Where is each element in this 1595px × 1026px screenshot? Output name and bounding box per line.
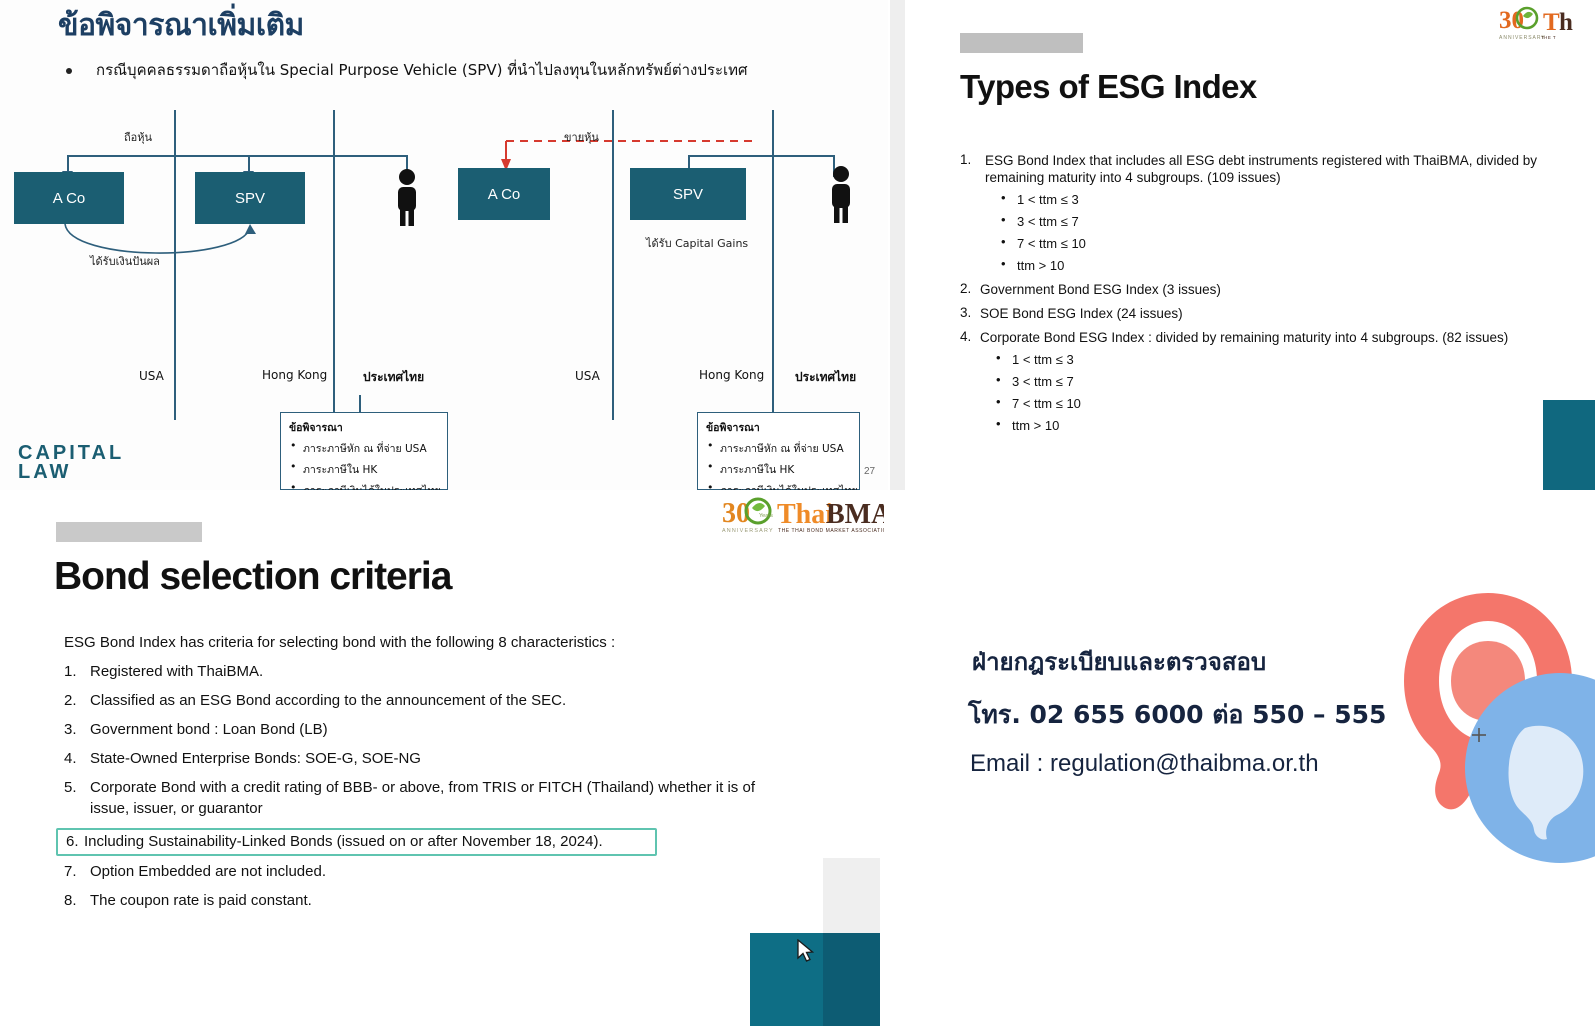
criteria-number: 6. xyxy=(66,832,79,853)
criteria-number: 3. xyxy=(64,720,77,741)
top-left-slide-lead-text: กรณีบุคคลธรรมดาถือหุ้นใน Special Purpose… xyxy=(96,58,856,82)
list-item-text: SOE Bond ESG Index (24 issues) xyxy=(980,305,1580,322)
box-spv-right: SPV xyxy=(630,168,746,220)
decorative-q-logos xyxy=(1375,553,1595,873)
list-item-text: Corporate Bond ESG Index : divided by re… xyxy=(980,329,1580,346)
criteria-number: 1. xyxy=(64,662,77,683)
bullet-dot-icon xyxy=(66,68,72,74)
divider-line-hk-th-right xyxy=(772,110,774,420)
criteria-text: Corporate Bond with a credit rating of B… xyxy=(90,779,755,817)
slide-left-gutter xyxy=(890,0,905,490)
contact-email: Email : regulation@thaibma.or.th xyxy=(970,750,1319,778)
svg-text:T: T xyxy=(1543,9,1560,36)
list-item: 2. Government Bond ESG Index (3 issues) xyxy=(960,281,1580,298)
criteria-item: 4. State-Owned Enterprise Bonds: SOE-G, … xyxy=(64,749,764,770)
criteria-item: 2. Classified as an ESG Bond according t… xyxy=(64,691,764,712)
contact-phone: โทร. 02 655 6000 ต่อ 550 – 555 xyxy=(968,695,1386,735)
label-hold-shares-left: ถือหุ้น xyxy=(124,128,152,146)
esg-index-title: Types of ESG Index xyxy=(960,68,1257,106)
criteria-item: 3. Government bond : Loan Bond (LB) xyxy=(64,720,764,741)
svg-text:Thai: Thai xyxy=(777,499,833,530)
sublist: 1 < ttm ≤ 3 3 < ttm ≤ 7 7 < ttm ≤ 10 ttm… xyxy=(980,352,1580,433)
list-item: 4. Corporate Bond ESG Index : divided by… xyxy=(960,329,1580,433)
connector-horizontal-right xyxy=(688,155,834,157)
svg-text:h: h xyxy=(1559,9,1573,36)
bond-criteria-list: 1. Registered with ThaiBMA. 2. Classifie… xyxy=(64,662,764,920)
note-stem-left xyxy=(359,395,361,413)
title-accent-bar xyxy=(56,522,202,542)
country-label-thailand-left: ประเทศไทย xyxy=(363,368,424,387)
criteria-text: State-Owned Enterprise Bonds: SOE-G, SOE… xyxy=(90,750,421,767)
country-label-thailand-right: ประเทศไทย xyxy=(795,368,856,387)
list-item-text: ESG Bond Index that includes all ESG deb… xyxy=(985,152,1580,186)
box-spv-left: SPV xyxy=(195,172,305,224)
criteria-item: 7. Option Embedded are not included. xyxy=(64,862,764,883)
sublist-item: ttm > 10 xyxy=(985,258,1580,273)
note-item: ภาระภาษีเงินได้ในประเทศไทย xyxy=(720,482,851,490)
background-window-strip xyxy=(823,858,880,934)
connector-horizontal-left xyxy=(67,155,407,157)
teal-accent-block xyxy=(1543,400,1595,490)
person-icon-right xyxy=(826,165,856,223)
sublist: 1 < ttm ≤ 3 3 < ttm ≤ 7 7 < ttm ≤ 10 ttm… xyxy=(985,192,1580,273)
thaibma-logo-top-right: 30 ANNIVERSARY T h THE T xyxy=(1497,2,1593,42)
sublist-item: 1 < ttm ≤ 3 xyxy=(980,352,1580,367)
list-item-number: 1. xyxy=(960,152,971,167)
note-box-left: ข้อพิจารณา ภาระภาษีหัก ณ ที่จ่าย USA ภาร… xyxy=(280,412,448,490)
criteria-item-highlighted: 6. Including Sustainability-Linked Bonds… xyxy=(56,828,657,857)
svg-text:Years: Years xyxy=(759,513,773,519)
svg-text:THE THAI BOND MARKET ASSOCIATI: THE THAI BOND MARKET ASSOCIATION xyxy=(778,528,884,534)
criteria-number: 5. xyxy=(64,778,77,799)
criteria-text: Option Embedded are not included. xyxy=(90,863,326,880)
taskbar-teal-bar-dark[interactable] xyxy=(823,933,880,1026)
criteria-text: Government bond : Loan Bond (LB) xyxy=(90,721,328,738)
top-right-slide-panel[interactable]: Types of ESG Index 1. ESG Bond Index tha… xyxy=(890,0,1595,490)
sublist-item: 3 < ttm ≤ 7 xyxy=(980,374,1580,389)
svg-text:BMA: BMA xyxy=(826,499,884,530)
criteria-number: 8. xyxy=(64,891,77,912)
note-box-right: ข้อพิจารณา ภาระภาษีหัก ณ ที่จ่าย USA ภาร… xyxy=(697,412,860,490)
list-item-number: 2. xyxy=(960,281,971,296)
box-a-co-right: A Co xyxy=(458,168,550,220)
svg-text:ANNIVERSARY: ANNIVERSARY xyxy=(1499,35,1546,41)
criteria-number: 2. xyxy=(64,691,77,712)
criteria-text: Including Sustainability-Linked Bonds (i… xyxy=(84,833,603,850)
note-item: ภาระภาษีหัก ณ ที่จ่าย USA xyxy=(303,440,439,457)
criteria-text: Classified as an ESG Bond according to t… xyxy=(90,692,566,709)
list-item-number: 3. xyxy=(960,305,971,320)
sublist-item: 7 < ttm ≤ 10 xyxy=(985,236,1580,251)
person-icon-left xyxy=(392,168,422,226)
page-number-label: 27 xyxy=(864,466,875,477)
capital-law-line2: LAW xyxy=(18,463,124,482)
sublist-item: 1 < ttm ≤ 3 xyxy=(985,192,1580,207)
box-a-co-left: A Co xyxy=(14,172,124,224)
sublist-item: 7 < ttm ≤ 10 xyxy=(980,396,1580,411)
thaibma-logo-center: 30 Years ANNIVERSARY Thai BMA THE THAI B… xyxy=(722,492,884,534)
bond-criteria-title: Bond selection criteria xyxy=(54,555,451,599)
criteria-item: 8. The coupon rate is paid constant. xyxy=(64,891,764,912)
title-accent-bar xyxy=(960,33,1083,53)
criteria-text: The coupon rate is paid constant. xyxy=(90,892,312,909)
note-list-left: ภาระภาษีหัก ณ ที่จ่าย USA ภาระภาษีใน HK … xyxy=(289,440,439,490)
top-left-slide-panel[interactable]: ข้อพิจารณาเพิ่มเติม กรณีบุคคลธรรมดาถือหุ… xyxy=(0,0,888,490)
note-item: ภาระภาษีใน HK xyxy=(303,461,439,478)
criteria-item: 1. Registered with ThaiBMA. xyxy=(64,662,764,683)
note-item: ภาระภาษีเงินได้ในประเทศไทย xyxy=(303,482,439,490)
country-label-usa-left: USA xyxy=(139,369,164,383)
criteria-item: 5. Corporate Bond with a credit rating o… xyxy=(64,778,764,819)
top-left-slide-heading: ข้อพิจารณาเพิ่มเติม xyxy=(58,2,304,49)
svg-text:ANNIVERSARY: ANNIVERSARY xyxy=(722,528,774,534)
note-item: ภาระภาษีใน HK xyxy=(720,461,851,478)
criteria-text: Registered with ThaiBMA. xyxy=(90,663,263,680)
criteria-number: 7. xyxy=(64,862,77,883)
svg-text:THE T: THE T xyxy=(1541,35,1556,40)
sublist-item: 3 < ttm ≤ 7 xyxy=(985,214,1580,229)
list-item-text: Government Bond ESG Index (3 issues) xyxy=(980,281,1580,298)
sublist-item: ttm > 10 xyxy=(980,418,1580,433)
esg-index-list: 1. ESG Bond Index that includes all ESG … xyxy=(960,152,1580,441)
bond-criteria-lead: ESG Bond Index has criteria for selectin… xyxy=(64,634,615,651)
screen-canvas: ข้อพิจารณาเพิ่มเติม กรณีบุคคลธรรมดาถือหุ… xyxy=(0,0,1595,1026)
criteria-number: 4. xyxy=(64,749,77,770)
label-dividend-left: ได้รับเงินปันผล xyxy=(90,252,160,270)
country-label-usa-right: USA xyxy=(575,369,600,383)
note-title-right: ข้อพิจารณา xyxy=(706,419,851,436)
label-sell-shares-right: ขายหุ้น xyxy=(564,128,599,146)
note-item: ภาระภาษีหัก ณ ที่จ่าย USA xyxy=(720,440,851,457)
slide-content-area: Types of ESG Index 1. ESG Bond Index tha… xyxy=(905,0,1595,490)
note-list-right: ภาระภาษีหัก ณ ที่จ่าย USA ภาระภาษีใน HK … xyxy=(706,440,851,490)
country-label-hk-left: Hong Kong xyxy=(262,368,327,382)
contact-department: ฝ่ายกฎระเบียบและตรวจสอบ xyxy=(972,642,1266,681)
country-label-hk-right: Hong Kong xyxy=(699,368,764,382)
capital-law-logo: CAPITAL LAW xyxy=(18,444,124,482)
divider-line-hk-th-left xyxy=(333,110,335,420)
note-title-left: ข้อพิจารณา xyxy=(289,419,439,436)
list-item: 3. SOE Bond ESG Index (24 issues) xyxy=(960,305,1580,322)
label-capital-gains-right: ได้รับ Capital Gains xyxy=(646,234,748,252)
list-item: 1. ESG Bond Index that includes all ESG … xyxy=(960,152,1580,273)
mouse-cursor-icon xyxy=(797,939,815,965)
list-item-number: 4. xyxy=(960,329,971,344)
